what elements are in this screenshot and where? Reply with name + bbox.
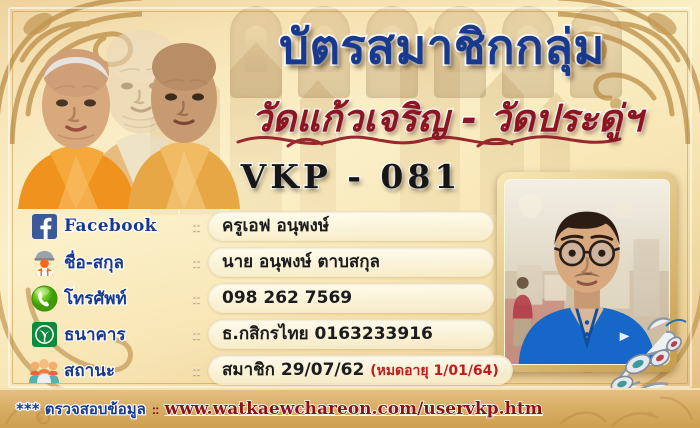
monk-portraits — [6, 4, 256, 209]
row-separator: :: — [184, 326, 208, 343]
info-row-bank: ธนาคาร :: ธ.กสิกรไทย 0163233916 — [24, 316, 494, 352]
info-row-status: สถานะ :: สมาชิก 29/07/62 (หมดอายุ 1/01/6… — [24, 352, 494, 388]
footer-separator: :: — [152, 402, 159, 417]
info-value-wrap-bank: ธ.กสิกรไทย 0163233916 — [208, 319, 494, 349]
status-text: สมาชิก 29/07/62 — [222, 360, 370, 380]
bank-kasikorn-icon — [24, 317, 64, 351]
info-value-phone: 098 262 7569 — [208, 283, 494, 313]
info-value-bank: ธ.กสิกรไทย 0163233916 — [208, 319, 494, 349]
member-info-rows: Facebook :: ครูเอฟ อนุพงษ์ — [24, 208, 494, 388]
info-value-wrap-name: นาย อนุพงษ์ ตาบสกุล — [208, 247, 494, 277]
monk-portrait-left — [14, 49, 139, 209]
footer-note: *** ตรวจสอบข้อมูล — [16, 397, 146, 421]
member-code: VKP - 081 — [236, 157, 466, 196]
info-row-facebook: Facebook :: ครูเอฟ อนุพงษ์ — [24, 208, 494, 244]
info-label-status: สถานะ — [64, 357, 184, 384]
info-value-wrap-status: สมาชิก 29/07/62 (หมดอายุ 1/01/64) — [208, 355, 513, 385]
card-title: บัตรสมาชิกกลุ่ม — [232, 24, 652, 71]
info-value-wrap-facebook: ครูเอฟ อนุพงษ์ — [208, 211, 494, 241]
person-worker-icon — [24, 245, 64, 279]
info-label-name: ชื่อ-สกุล — [64, 249, 184, 276]
info-value-name: นาย อนุพงษ์ ตาบสกุล — [208, 247, 494, 277]
info-label-bank: ธนาคาร — [64, 321, 184, 348]
phone-icon — [24, 281, 64, 315]
info-value-facebook: ครูเอฟ อนุพงษ์ — [208, 211, 494, 241]
info-row-phone: โทรศัพท์ :: 098 262 7569 — [24, 280, 494, 316]
row-separator: :: — [184, 218, 208, 235]
temple-name-title: วัดแก้วเจริญ - วัดประดู่ฯ — [222, 100, 672, 137]
row-separator: :: — [184, 362, 208, 379]
status-expiry: (หมดอายุ 1/01/64) — [370, 363, 499, 379]
facebook-icon — [24, 209, 64, 243]
card-footer: *** ตรวจสอบข้อมูล :: www.watkaewchareon.… — [0, 388, 700, 428]
info-value-status: สมาชิก 29/07/62 (หมดอายุ 1/01/64) — [208, 355, 513, 385]
footer-url-link[interactable]: www.watkaewchareon.com/uservkp.htm — [164, 399, 542, 419]
info-row-name: ชื่อ-สกุล :: นาย อนุพงษ์ ตาบสกุล — [24, 244, 494, 280]
row-separator: :: — [184, 254, 208, 271]
group-people-icon — [24, 353, 64, 387]
row-separator: :: — [184, 290, 208, 307]
info-label-facebook: Facebook — [64, 216, 184, 236]
info-value-wrap-phone: 098 262 7569 — [208, 283, 494, 313]
info-label-phone: โทรศัพท์ — [64, 285, 184, 312]
membership-card: บัตรสมาชิกกลุ่ม วัดแก้วเจริญ - วัดประดู่… — [0, 0, 700, 428]
member-photo-frame — [497, 172, 677, 372]
member-photo — [504, 179, 670, 365]
